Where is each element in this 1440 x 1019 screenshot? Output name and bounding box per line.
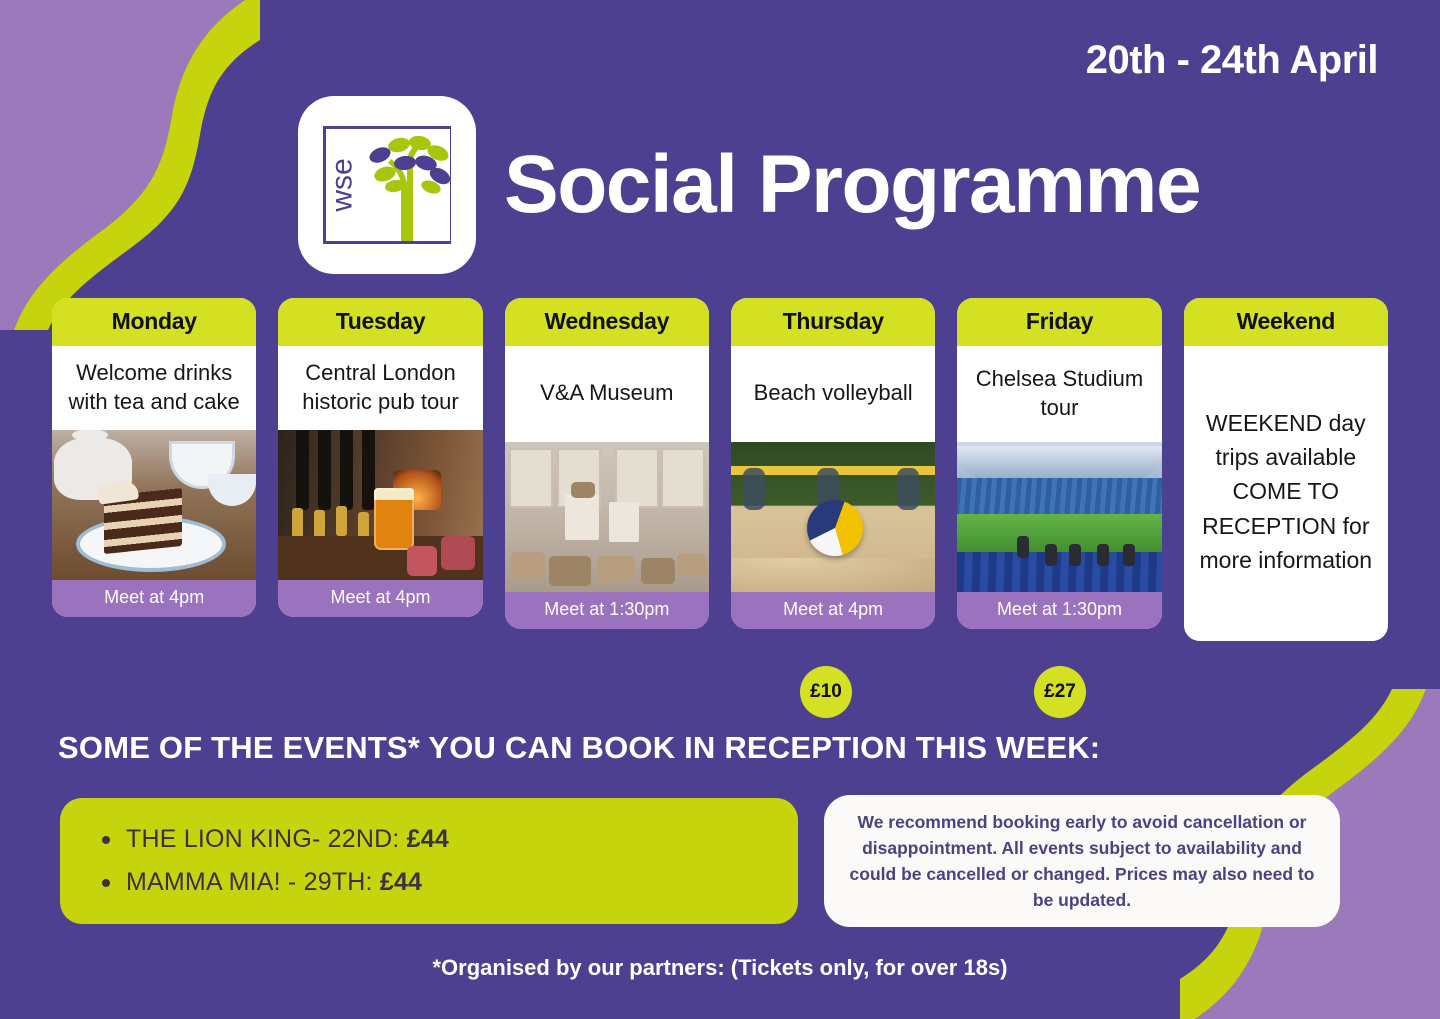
bookable-events-box: THE LION KING- 22ND: £44 MAMMA MIA! - 29… [60, 798, 798, 924]
decorative-wave-top-left [0, 0, 260, 330]
page-title: Social Programme [504, 144, 1200, 226]
meet-time-label: Meet at 4pm [52, 580, 256, 617]
day-card-thursday[interactable]: Thursday Beach volleyball Meet at 4pm [731, 298, 935, 629]
event-price: £44 [407, 825, 449, 853]
museum-gallery-photo [505, 442, 709, 592]
booking-notice-text: We recommend booking early to avoid canc… [844, 809, 1320, 914]
meet-time-label: Meet at 1:30pm [505, 592, 709, 629]
price-badge-thursday: £10 [800, 666, 852, 718]
wse-logo-wordmark: wse [326, 129, 360, 241]
day-label: Tuesday [278, 298, 482, 346]
booking-notice-box: We recommend booking early to avoid canc… [824, 795, 1340, 927]
activity-label: Chelsea Studium tour [957, 346, 1161, 442]
day-card-weekend[interactable]: Weekend WEEKEND day trips available COME… [1184, 298, 1388, 641]
day-label: Friday [957, 298, 1161, 346]
activity-label: Beach volleyball [731, 346, 935, 442]
tree-icon [360, 129, 450, 241]
event-name: THE LION KING- 22ND: [126, 825, 400, 853]
meet-time-label: Meet at 4pm [278, 580, 482, 617]
pub-interior-photo [278, 430, 482, 580]
wse-logo-frame: wse [323, 126, 451, 244]
meet-time-label: Meet at 1:30pm [957, 592, 1161, 629]
wse-logo: wse [298, 96, 476, 274]
day-label: Weekend [1184, 298, 1388, 346]
activity-label: Welcome drinks with tea and cake [52, 346, 256, 430]
stadium-photo [957, 442, 1161, 592]
poster-header: wse [298, 96, 1200, 274]
day-card-monday[interactable]: Monday Welcome drinks with tea and cake … [52, 298, 256, 617]
event-name: MAMMA MIA! - 29TH: [126, 868, 373, 896]
activity-label: WEEKEND day trips available COME TO RECE… [1184, 346, 1388, 641]
day-card-wednesday[interactable]: Wednesday V&A Museum Mee [505, 298, 709, 629]
activity-label: V&A Museum [505, 346, 709, 442]
event-price: £44 [380, 868, 422, 896]
wse-logo-text: wse [328, 158, 358, 211]
day-cards: Monday Welcome drinks with tea and cake … [52, 298, 1388, 641]
day-label: Wednesday [505, 298, 709, 346]
social-programme-poster: 20th - 24th April wse [0, 0, 1440, 1019]
booking-heading: SOME OF THE EVENTS* YOU CAN BOOK IN RECE… [58, 730, 1100, 766]
day-label: Monday [52, 298, 256, 346]
date-range: 20th - 24th April [1086, 38, 1378, 83]
meet-time-label: Meet at 4pm [731, 592, 935, 629]
day-card-friday[interactable]: Friday Chelsea Studium tour Meet at 1:30… [957, 298, 1161, 629]
activity-label: Central London historic pub tour [278, 346, 482, 430]
list-item: MAMMA MIA! - 29TH: £44 [94, 868, 764, 897]
day-label: Thursday [731, 298, 935, 346]
list-item: THE LION KING- 22ND: £44 [94, 825, 764, 854]
price-badge-friday: £27 [1034, 666, 1086, 718]
footnote: *Organised by our partners: (Tickets onl… [0, 955, 1440, 981]
day-card-tuesday[interactable]: Tuesday Central London historic pub tour… [278, 298, 482, 617]
beach-volleyball-photo [731, 442, 935, 592]
tea-and-cake-photo [52, 430, 256, 580]
